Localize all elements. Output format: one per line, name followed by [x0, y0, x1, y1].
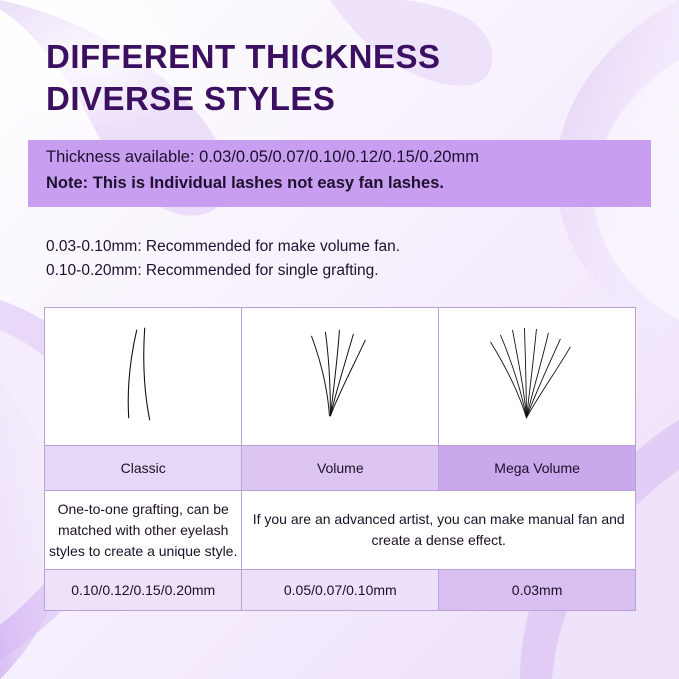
style-name-volume: Volume — [242, 446, 439, 491]
lash-type-note: Note: This is Individual lashes not easy… — [46, 174, 444, 193]
thickness-mega-volume: 0.03mm — [439, 570, 636, 611]
classic-lash-illustration — [45, 308, 241, 445]
thickness-volume: 0.05/0.07/0.10mm — [242, 570, 439, 611]
recommendation-text: 0.03-0.10mm: Recommended for make volume… — [46, 235, 400, 283]
table-row-thickness: 0.10/0.12/0.15/0.20mm 0.05/0.07/0.10mm 0… — [45, 570, 636, 611]
lash-style-table: Classic Volume Mega Volume One-to-one gr… — [44, 307, 636, 611]
table-row-style-names: Classic Volume Mega Volume — [45, 446, 636, 491]
mega-volume-lash-cell — [439, 308, 636, 446]
table-row-descriptions: One-to-one grafting, can be matched with… — [45, 491, 636, 570]
thickness-classic: 0.10/0.12/0.15/0.20mm — [45, 570, 242, 611]
volume-lash-cell — [242, 308, 439, 446]
page-title: DIFFERENT THICKNESS DIVERSE STYLES — [46, 36, 441, 120]
thickness-band: Thickness available: 0.03/0.05/0.07/0.10… — [28, 140, 651, 207]
classic-lash-cell — [45, 308, 242, 446]
volume-fan-illustration — [242, 308, 438, 445]
description-volume-mega: If you are an advanced artist, you can m… — [242, 491, 636, 570]
poster-page: DIFFERENT THICKNESS DIVERSE STYLES Thick… — [0, 0, 679, 679]
description-classic: One-to-one grafting, can be matched with… — [45, 491, 242, 570]
mega-volume-fan-illustration — [439, 308, 635, 445]
table-row-illustrations — [45, 308, 636, 446]
thickness-available-text: Thickness available: 0.03/0.05/0.07/0.10… — [46, 148, 479, 167]
style-name-classic: Classic — [45, 446, 242, 491]
style-name-mega-volume: Mega Volume — [439, 446, 636, 491]
